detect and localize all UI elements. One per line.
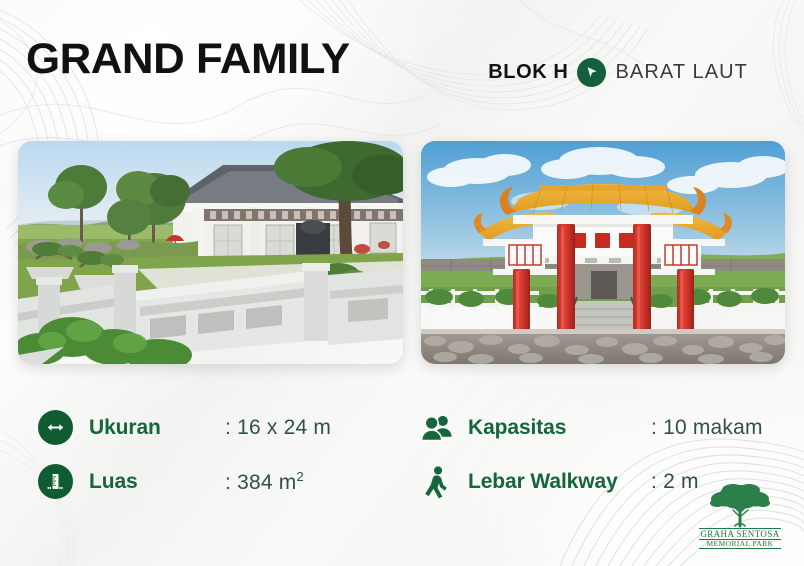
spec-label-luas: Luas — [89, 470, 225, 494]
direction-label: BARAT LAUT — [615, 61, 748, 84]
spec-label-kapasitas: Kapasitas — [468, 416, 651, 440]
ruler-icon — [38, 464, 73, 499]
spec-row-kapasitas: Kapasitas : 10 makam — [418, 410, 763, 446]
spec-row-walkway: Lebar Walkway : 2 m — [418, 464, 699, 500]
spec-value-ukuran: : 16 x 24 m — [225, 416, 331, 440]
spec-value-luas: : 384 m2 — [225, 469, 304, 495]
memorial-pavilion-photo — [18, 141, 403, 364]
walking-person-icon — [418, 464, 454, 500]
spec-row-ukuran: Ukuran : 16 x 24 m — [38, 410, 331, 445]
users-icon — [418, 410, 454, 446]
tree-icon — [709, 482, 771, 528]
logo-text-block: GRAHA SENTOSA MEMORIAL PARK — [699, 528, 780, 549]
compass-arrow-northwest-icon — [577, 58, 606, 87]
resize-arrows-icon — [38, 410, 73, 445]
page-title: GRAND FAMILY — [26, 38, 350, 81]
spec-row-luas: Luas : 384 m2 — [38, 464, 304, 499]
graha-sentosa-logo: GRAHA SENTOSA MEMORIAL PARK — [692, 482, 788, 558]
spec-label-ukuran: Ukuran — [89, 416, 225, 440]
specifications-group: Ukuran : 16 x 24 m — [0, 398, 804, 528]
block-label: BLOK H — [488, 61, 568, 84]
block-direction-group: BLOK H BARAT LAUT — [488, 58, 748, 87]
unit-superscript: 2 — [296, 469, 303, 484]
spec-label-walkway: Lebar Walkway — [468, 470, 651, 494]
chinese-gate-photo — [421, 141, 785, 364]
logo-line-2: MEMORIAL PARK — [699, 540, 780, 549]
header: GRAND FAMILY BLOK H BARAT LAUT — [0, 0, 804, 128]
spec-value-kapasitas: : 10 makam — [651, 416, 763, 440]
poster-canvas: GRAND FAMILY BLOK H BARAT LAUT — [0, 0, 804, 566]
